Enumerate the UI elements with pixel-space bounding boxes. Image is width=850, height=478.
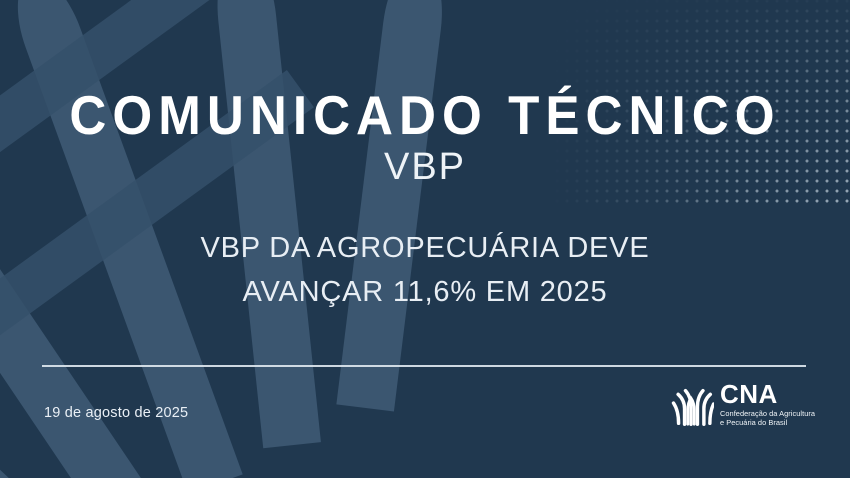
cna-logo-text: CNA Confederação da Agricultura e Pecuár… [720, 381, 834, 428]
cna-tagline-line-2: e Pecuária do Brasil [720, 418, 834, 427]
headline-line-1: VBP DA AGROPECUÁRIA DEVE [0, 226, 850, 270]
publication-date: 19 de agosto de 2025 [44, 405, 188, 421]
comunicado-tecnico-slide: COMUNICADO TÉCNICO VBP VBP DA AGROPECUÁR… [0, 0, 850, 478]
cna-logo: CNA Confederação da Agricultura e Pecuár… [668, 381, 834, 431]
cna-tagline: Confederação da Agricultura e Pecuária d… [720, 409, 834, 428]
cna-wheat-mark-icon [668, 381, 714, 427]
headline-block: VBP DA AGROPECUÁRIA DEVE AVANÇAR 11,6% E… [0, 226, 850, 314]
headline-line-2: AVANÇAR 11,6% EM 2025 [0, 270, 850, 314]
cna-acronym: CNA [720, 381, 834, 407]
horizontal-divider [42, 365, 806, 367]
cna-tagline-line-1: Confederação da Agricultura [720, 409, 834, 418]
slide-content: COMUNICADO TÉCNICO VBP VBP DA AGROPECUÁR… [0, 0, 850, 478]
page-subtitle: VBP [0, 147, 850, 189]
page-title: COMUNICADO TÉCNICO [30, 88, 821, 143]
